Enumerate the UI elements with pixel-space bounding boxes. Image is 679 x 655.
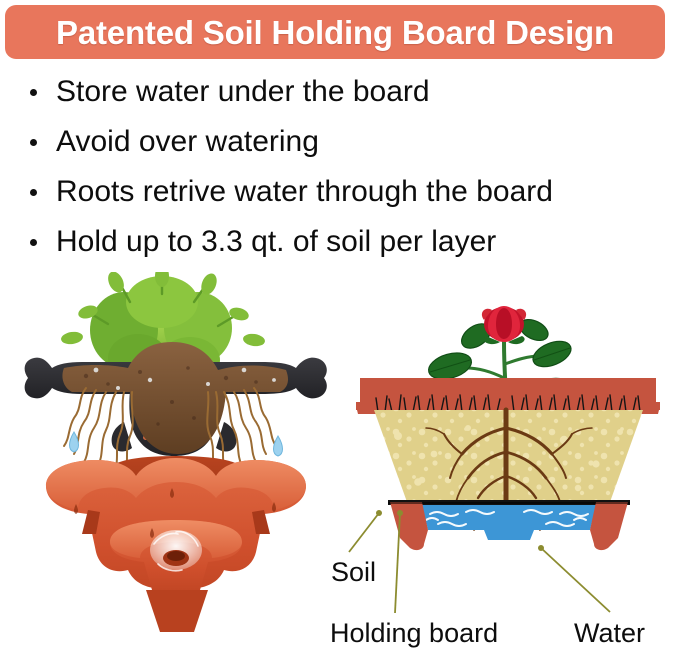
callout-label-soil: Soil — [331, 557, 376, 587]
product-photo — [12, 272, 342, 632]
feature-list: Store water under the board Avoid over w… — [26, 72, 666, 272]
list-item: Roots retrive water through the board — [26, 172, 666, 212]
list-item: Hold up to 3.3 qt. of soil per layer — [26, 222, 666, 262]
infographic-page: Patented Soil Holding Board Design Store… — [0, 0, 679, 655]
callout-label-holding-board: Holding board — [330, 618, 498, 648]
header-banner: Patented Soil Holding Board Design — [5, 5, 665, 59]
callout-label-water: Water — [574, 618, 645, 648]
feature-text: Hold up to 3.3 qt. of soil per layer — [56, 225, 496, 258]
page-title: Patented Soil Holding Board Design — [56, 16, 614, 49]
water-reservoir — [422, 505, 596, 540]
rose-flower — [482, 306, 526, 344]
feature-text: Store water under the board — [56, 75, 430, 108]
planter-pot — [46, 456, 306, 632]
figures-area — [0, 272, 679, 655]
feature-text: Avoid over watering — [56, 125, 319, 158]
bullet-icon — [30, 239, 37, 246]
list-item: Avoid over watering — [26, 122, 666, 162]
bullet-icon — [30, 139, 37, 146]
cross-section-diagram — [338, 306, 679, 571]
bullet-icon — [30, 189, 37, 196]
feature-text: Roots retrive water through the board — [56, 175, 553, 208]
bullet-icon — [30, 89, 37, 96]
list-item: Store water under the board — [26, 72, 666, 112]
soil-mound — [62, 342, 288, 454]
